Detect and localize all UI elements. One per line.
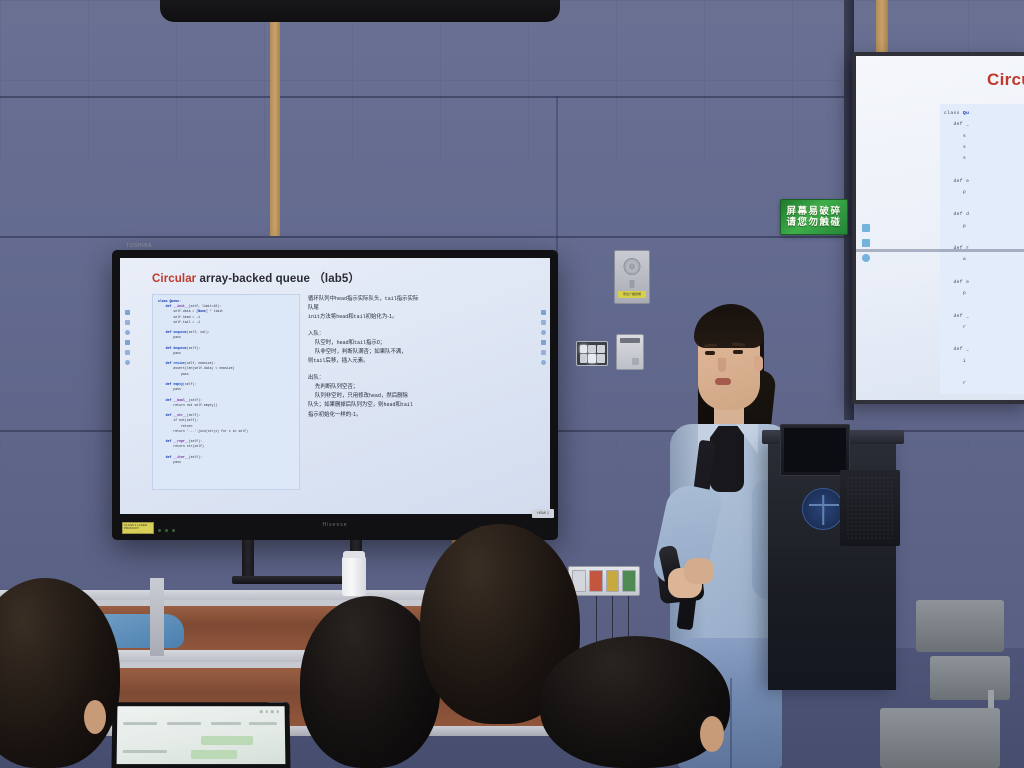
notes-line: 出队： [308,374,540,383]
presenter-eye-left [705,351,715,355]
tv-input-badge: HDMI 1 [532,509,554,518]
switch-2[interactable] [588,345,595,353]
side-code-line [944,389,1024,394]
warning-line-2: 请您勿触碰 [786,218,841,228]
highlighter-icon[interactable] [125,320,130,325]
side-code-line [944,232,1024,243]
tv-stand-base [232,576,360,584]
side-code-line [944,266,1024,277]
socket-2-red[interactable] [589,570,603,592]
main-interactive-display[interactable]: TOSHIBA [112,250,558,540]
chair-seat-right-2 [880,708,1000,768]
student-head-center-left [300,596,440,768]
notes-line: 队空时，head和tail指示0； [308,339,540,348]
side-screen-surface: Circu class Qu def _ s s s def e p def d… [856,56,1024,400]
wood-trim-upper [270,22,280,96]
doc-line-4 [249,722,277,725]
code-line: pass [158,460,294,465]
side-slide-title: Circu [987,70,1024,90]
eraser-icon[interactable] [541,330,546,335]
floor-speaker [840,470,900,546]
slide-right-toolbar[interactable] [541,310,546,365]
side-code-line: s [944,142,1024,153]
eraser-icon[interactable] [862,239,870,247]
side-code-line [944,367,1024,378]
side-code-line: r [944,322,1024,333]
undo-icon[interactable] [541,350,546,355]
side-code-line [944,164,1024,175]
power-socket-plate[interactable] [568,566,640,596]
side-code-line: def _ [944,344,1024,355]
side-code-line [944,299,1024,310]
side-code-line: def d [944,209,1024,220]
side-code-line: class Qu [944,108,1024,119]
socket-4-green[interactable] [622,570,636,592]
side-code-line: def e [944,277,1024,288]
student-ear-right [700,716,724,752]
lighting-switch-panel[interactable] [576,341,608,366]
ceiling-light-bar [160,0,560,22]
side-code-line: s [944,153,1024,164]
side-code-line: s [944,131,1024,142]
power-led [158,529,161,532]
speaker-label: 紧急广播终端 [618,291,646,298]
presentation-slide: Circular array-backed queue （lab5） class… [120,258,550,514]
slide-body: class Queue: def __init__(self, limit=10… [152,294,540,490]
speaker-volume-knob[interactable] [630,280,635,288]
presenter-hand-left [684,558,714,584]
notes-spacer [308,367,540,374]
notes-line: 队非空时，判断队满否；如果队不满， [308,348,540,357]
side-code-line [944,333,1024,344]
doc-line-3 [211,722,241,725]
side-screen-toolbar[interactable] [862,224,870,262]
podium-monitor-screen[interactable] [784,428,846,472]
side-code-line: def e [944,176,1024,187]
lecture-hall-scene: Circu class Qu def _ s s s def e p def d… [0,0,1024,768]
socket-3-yellow[interactable] [606,570,620,592]
doc-highlight-1 [201,736,253,745]
emergency-broadcast-speaker: 紧急广播终端 [614,250,650,304]
pen-icon[interactable] [541,310,546,315]
presenter-jeans-seam [730,678,732,768]
chair-seat-right [916,600,1004,652]
side-code-line: i [944,356,1024,367]
slide-left-toolbar[interactable] [125,310,130,365]
pen-icon[interactable] [862,224,870,232]
switch-1[interactable] [580,345,587,353]
student-laptop-screen[interactable] [117,706,286,764]
more-icon[interactable] [541,360,546,365]
doc-line-5 [123,750,167,753]
notes-line: 队头；如果删掉后队列为空，则head和tail [308,401,540,410]
undo-icon[interactable] [125,350,130,355]
notes-line: 则tail后移，插入元素。 [308,357,540,366]
presenter-mouth [715,378,731,385]
laptop-window-controls[interactable] [260,710,279,712]
side-code-line: def _ [944,119,1024,130]
presenter-ear [754,356,763,371]
doc-line-2 [167,722,201,725]
side-code-line: p [944,221,1024,232]
switch-4[interactable] [580,354,587,362]
notes-line: init方法将head和tail初始化为-1。 [308,313,540,322]
student-laptop[interactable] [111,702,290,768]
slide-code-block: class Queue: def __init__(self, limit=10… [152,294,300,490]
speaker-grille-icon [624,258,641,275]
pen-icon[interactable] [125,310,130,315]
warning-line-1: 屏幕易破碎 [786,207,841,217]
side-screen-seam [856,249,1024,252]
secondary-projection-screen[interactable]: Circu class Qu def _ s s s def e p def d… [852,52,1024,404]
side-code-line: r [944,378,1024,389]
doc-line-1 [123,722,157,725]
presenter-hair-front [694,308,764,348]
screen-fragile-warning-sign: 屏幕易破碎 请您勿触碰 [780,199,848,235]
white-thermos [342,556,366,596]
doc-highlight-2 [191,750,237,759]
chair-back-right [930,656,1010,700]
shapes-icon[interactable] [541,340,546,345]
university-crest-icon [802,488,844,530]
wood-trim-mid [270,96,280,236]
palette-icon[interactable] [862,254,870,262]
side-code-line: p [944,187,1024,198]
notes-line: 指示初始化一样的-1。 [308,411,540,420]
eraser-icon[interactable] [125,330,130,335]
slide-notes-block: 循环队列中head指示实际队头，tail指示实际队尾init方法将head和ta… [308,294,540,490]
student-ear-left [84,700,106,734]
side-code-line: a [944,254,1024,265]
switch-3[interactable] [597,345,604,353]
notes-line: 队尾 [308,304,540,313]
notes-spacer [308,323,540,330]
notes-line: 队列非空时，只用修改head，然后删除 [308,392,540,401]
side-code-line: def _ [944,311,1024,322]
tv-brand-logo: TOSHIBA [126,243,152,249]
presenter-nose [718,358,726,372]
tv-screen-surface[interactable]: Circular array-backed queue （lab5） class… [120,258,550,514]
student-head-center-right [540,636,730,768]
more-icon[interactable] [125,360,130,365]
wood-trim-right [876,0,888,52]
presenter-eye-right [733,350,743,354]
switch-5[interactable] [588,354,595,362]
laser-warning-sticker: CLASS 1 LASER PRODUCT [122,522,154,534]
podium-monitor[interactable] [780,424,850,476]
switch-6[interactable] [597,354,604,362]
tv-stand-left-column [242,540,254,578]
signal-led [172,529,175,532]
slide-title-rest: array-backed queue （lab5） [196,273,360,285]
desk-divider [150,578,164,656]
standby-led [165,529,168,532]
highlighter-icon[interactable] [541,320,546,325]
slide-title: Circular array-backed queue （lab5） [152,270,540,286]
slide-title-accent: Circular [152,273,196,285]
notes-line: 先判断队列空否； [308,383,540,392]
presenter-collar-right [736,424,758,454]
notes-line: 入队： [308,330,540,339]
thermos-cap [343,551,365,558]
shapes-icon[interactable] [125,340,130,345]
floor-speaker-grille-icon [846,476,894,540]
tv-status-leds [158,529,175,532]
notes-line: 循环队列中head指示实际队头，tail指示实际 [308,295,540,304]
side-code-line [944,198,1024,209]
tv-bottom-brand: Hisense [322,522,347,528]
side-code-line: p [944,288,1024,299]
